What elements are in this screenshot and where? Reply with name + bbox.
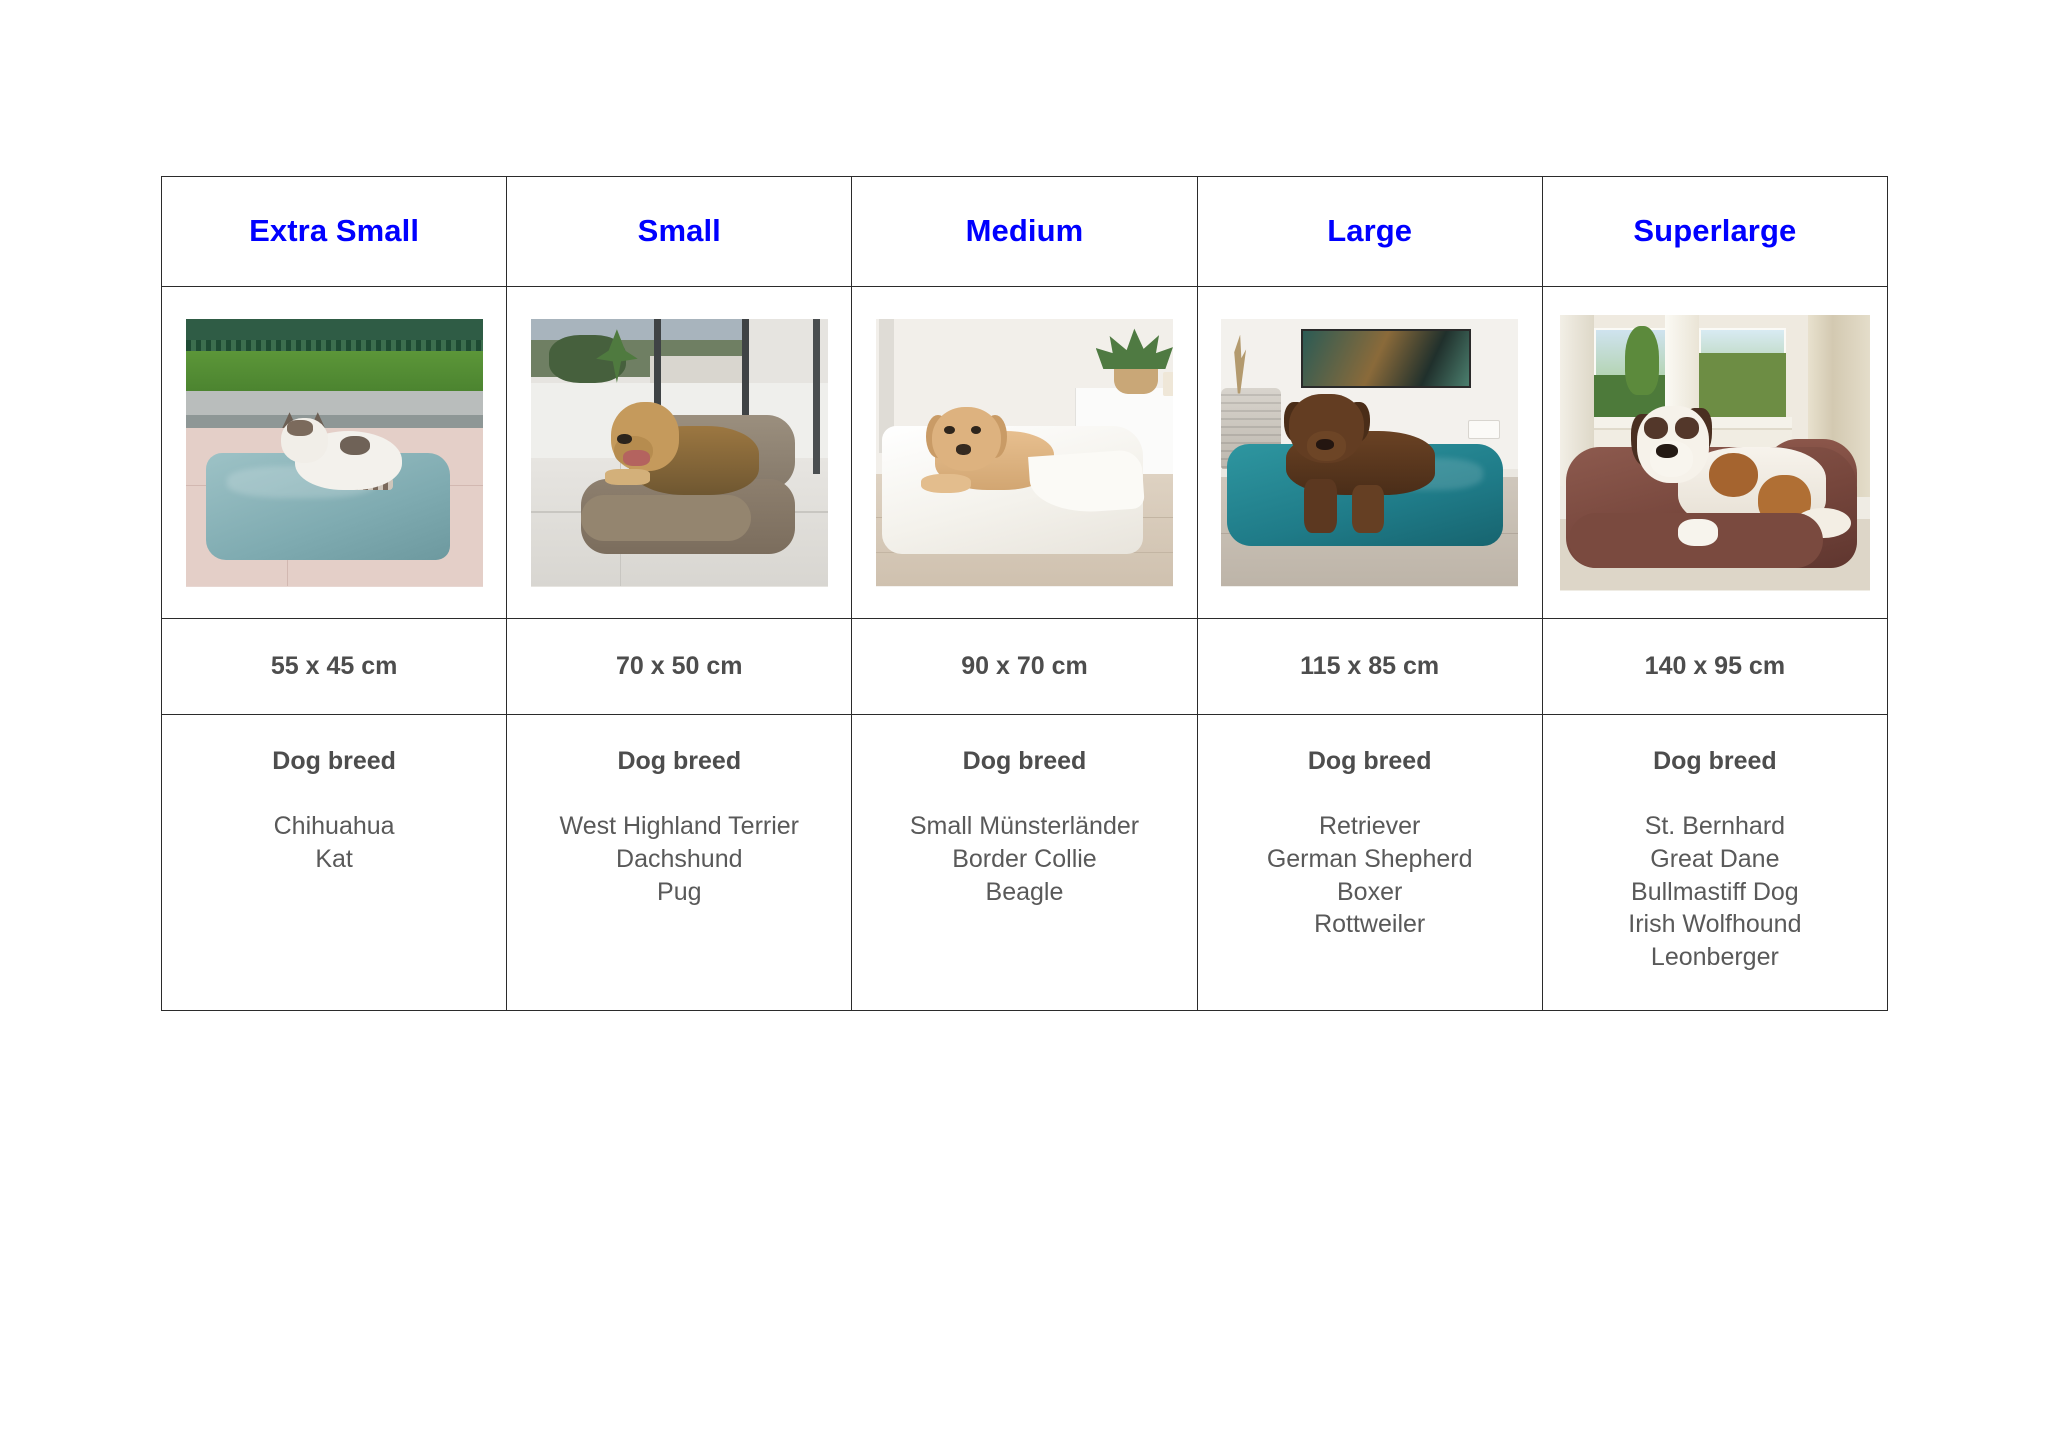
breed-item: West Highland Terrier bbox=[507, 810, 851, 843]
size-name-label: Large bbox=[1198, 214, 1542, 248]
dimensions-cell-large: 115 x 85 cm bbox=[1197, 619, 1542, 715]
dog-bed-size-table: Extra Small Small Medium Large Superlarg… bbox=[161, 176, 1888, 1011]
dimensions-label: 55 x 45 cm bbox=[162, 652, 506, 681]
breed-block: Dog breed St. Bernhard Great Dane Bullma… bbox=[1543, 715, 1887, 974]
dimensions-cell-superlarge: 140 x 95 cm bbox=[1542, 619, 1887, 715]
page-canvas: Extra Small Small Medium Large Superlarg… bbox=[0, 0, 2048, 1448]
breed-item: Bullmastiff Dog bbox=[1543, 876, 1887, 909]
breed-item: Beagle bbox=[852, 876, 1196, 909]
breed-cell-medium: Dog breed Small Münsterländer Border Col… bbox=[852, 715, 1197, 1011]
breed-heading: Dog breed bbox=[162, 747, 506, 776]
breed-item: Retriever bbox=[1198, 810, 1542, 843]
photo-terrier-on-brown-leather-sofa-bed bbox=[531, 319, 828, 587]
photo-chocolate-labrador-on-teal-dog-bed bbox=[1221, 319, 1518, 587]
photo-cockapoo-puppy-on-white-dog-bed bbox=[876, 319, 1173, 587]
table-header-row: Extra Small Small Medium Large Superlarg… bbox=[162, 177, 1888, 287]
header-cell-large: Large bbox=[1197, 177, 1542, 287]
breed-heading: Dog breed bbox=[852, 747, 1196, 776]
photo-cell-large bbox=[1197, 287, 1542, 619]
photo-cell-superlarge bbox=[1542, 287, 1887, 619]
photo-wrapper bbox=[1198, 287, 1542, 618]
photo-cell-extra-small bbox=[162, 287, 507, 619]
breed-block: Dog breed Retriever German Shepherd Boxe… bbox=[1198, 715, 1542, 941]
breed-item: Great Dane bbox=[1543, 843, 1887, 876]
dimensions-label: 115 x 85 cm bbox=[1198, 652, 1542, 681]
breed-item: Boxer bbox=[1198, 876, 1542, 909]
breed-item: St. Bernhard bbox=[1543, 810, 1887, 843]
header-cell-small: Small bbox=[507, 177, 852, 287]
photo-wrapper bbox=[162, 287, 506, 618]
breed-item: Small Münsterländer bbox=[852, 810, 1196, 843]
breed-item: Rottweiler bbox=[1198, 908, 1542, 941]
breed-item: German Shepherd bbox=[1198, 843, 1542, 876]
photo-scene bbox=[531, 319, 828, 587]
breed-list: Small Münsterländer Border Collie Beagle bbox=[852, 810, 1196, 908]
breed-list: West Highland Terrier Dachshund Pug bbox=[507, 810, 851, 908]
dimensions-label: 70 x 50 cm bbox=[507, 652, 851, 681]
photo-cat-on-light-blue-dog-bed bbox=[186, 319, 483, 587]
table-breed-row: Dog breed Chihuahua Kat Dog breed West H… bbox=[162, 715, 1888, 1011]
breed-item: Irish Wolfhound bbox=[1543, 908, 1887, 941]
breed-block: Dog breed West Highland Terrier Dachshun… bbox=[507, 715, 851, 908]
size-name-label: Superlarge bbox=[1543, 214, 1887, 248]
photo-scene bbox=[186, 319, 483, 587]
breed-cell-superlarge: Dog breed St. Bernhard Great Dane Bullma… bbox=[1542, 715, 1887, 1011]
breed-item: Leonberger bbox=[1543, 941, 1887, 974]
header-cell-superlarge: Superlarge bbox=[1542, 177, 1887, 287]
dimensions-cell-medium: 90 x 70 cm bbox=[852, 619, 1197, 715]
breed-heading: Dog breed bbox=[507, 747, 851, 776]
size-name-label: Extra Small bbox=[162, 214, 506, 248]
breed-item: Pug bbox=[507, 876, 851, 909]
breed-block: Dog breed Chihuahua Kat bbox=[162, 715, 506, 876]
breed-item: Chihuahua bbox=[162, 810, 506, 843]
photo-scene bbox=[876, 319, 1173, 587]
photo-wrapper bbox=[1543, 287, 1887, 618]
photo-wrapper bbox=[852, 287, 1196, 618]
breed-item: Dachshund bbox=[507, 843, 851, 876]
breed-item: Kat bbox=[162, 843, 506, 876]
breed-block: Dog breed Small Münsterländer Border Col… bbox=[852, 715, 1196, 908]
breed-heading: Dog breed bbox=[1198, 747, 1542, 776]
breed-cell-large: Dog breed Retriever German Shepherd Boxe… bbox=[1197, 715, 1542, 1011]
breed-list: Retriever German Shepherd Boxer Rottweil… bbox=[1198, 810, 1542, 941]
breed-cell-small: Dog breed West Highland Terrier Dachshun… bbox=[507, 715, 852, 1011]
breed-list: Chihuahua Kat bbox=[162, 810, 506, 876]
breed-cell-extra-small: Dog breed Chihuahua Kat bbox=[162, 715, 507, 1011]
photo-cell-medium bbox=[852, 287, 1197, 619]
photo-cell-small bbox=[507, 287, 852, 619]
dimensions-cell-small: 70 x 50 cm bbox=[507, 619, 852, 715]
dimensions-label: 90 x 70 cm bbox=[852, 652, 1196, 681]
photo-scene bbox=[1560, 315, 1870, 591]
photo-wrapper bbox=[507, 287, 851, 618]
header-cell-medium: Medium bbox=[852, 177, 1197, 287]
size-name-label: Small bbox=[507, 214, 851, 248]
breed-list: St. Bernhard Great Dane Bullmastiff Dog … bbox=[1543, 810, 1887, 974]
table-photo-row bbox=[162, 287, 1888, 619]
photo-scene bbox=[1221, 319, 1518, 587]
breed-item: Border Collie bbox=[852, 843, 1196, 876]
size-name-label: Medium bbox=[852, 214, 1196, 248]
dimensions-cell-extra-small: 55 x 45 cm bbox=[162, 619, 507, 715]
dimensions-label: 140 x 95 cm bbox=[1543, 652, 1887, 681]
breed-heading: Dog breed bbox=[1543, 747, 1887, 776]
photo-st-bernard-on-brown-leather-sofa-bed bbox=[1560, 315, 1870, 591]
table-dimensions-row: 55 x 45 cm 70 x 50 cm 90 x 70 cm 115 x 8… bbox=[162, 619, 1888, 715]
header-cell-extra-small: Extra Small bbox=[162, 177, 507, 287]
